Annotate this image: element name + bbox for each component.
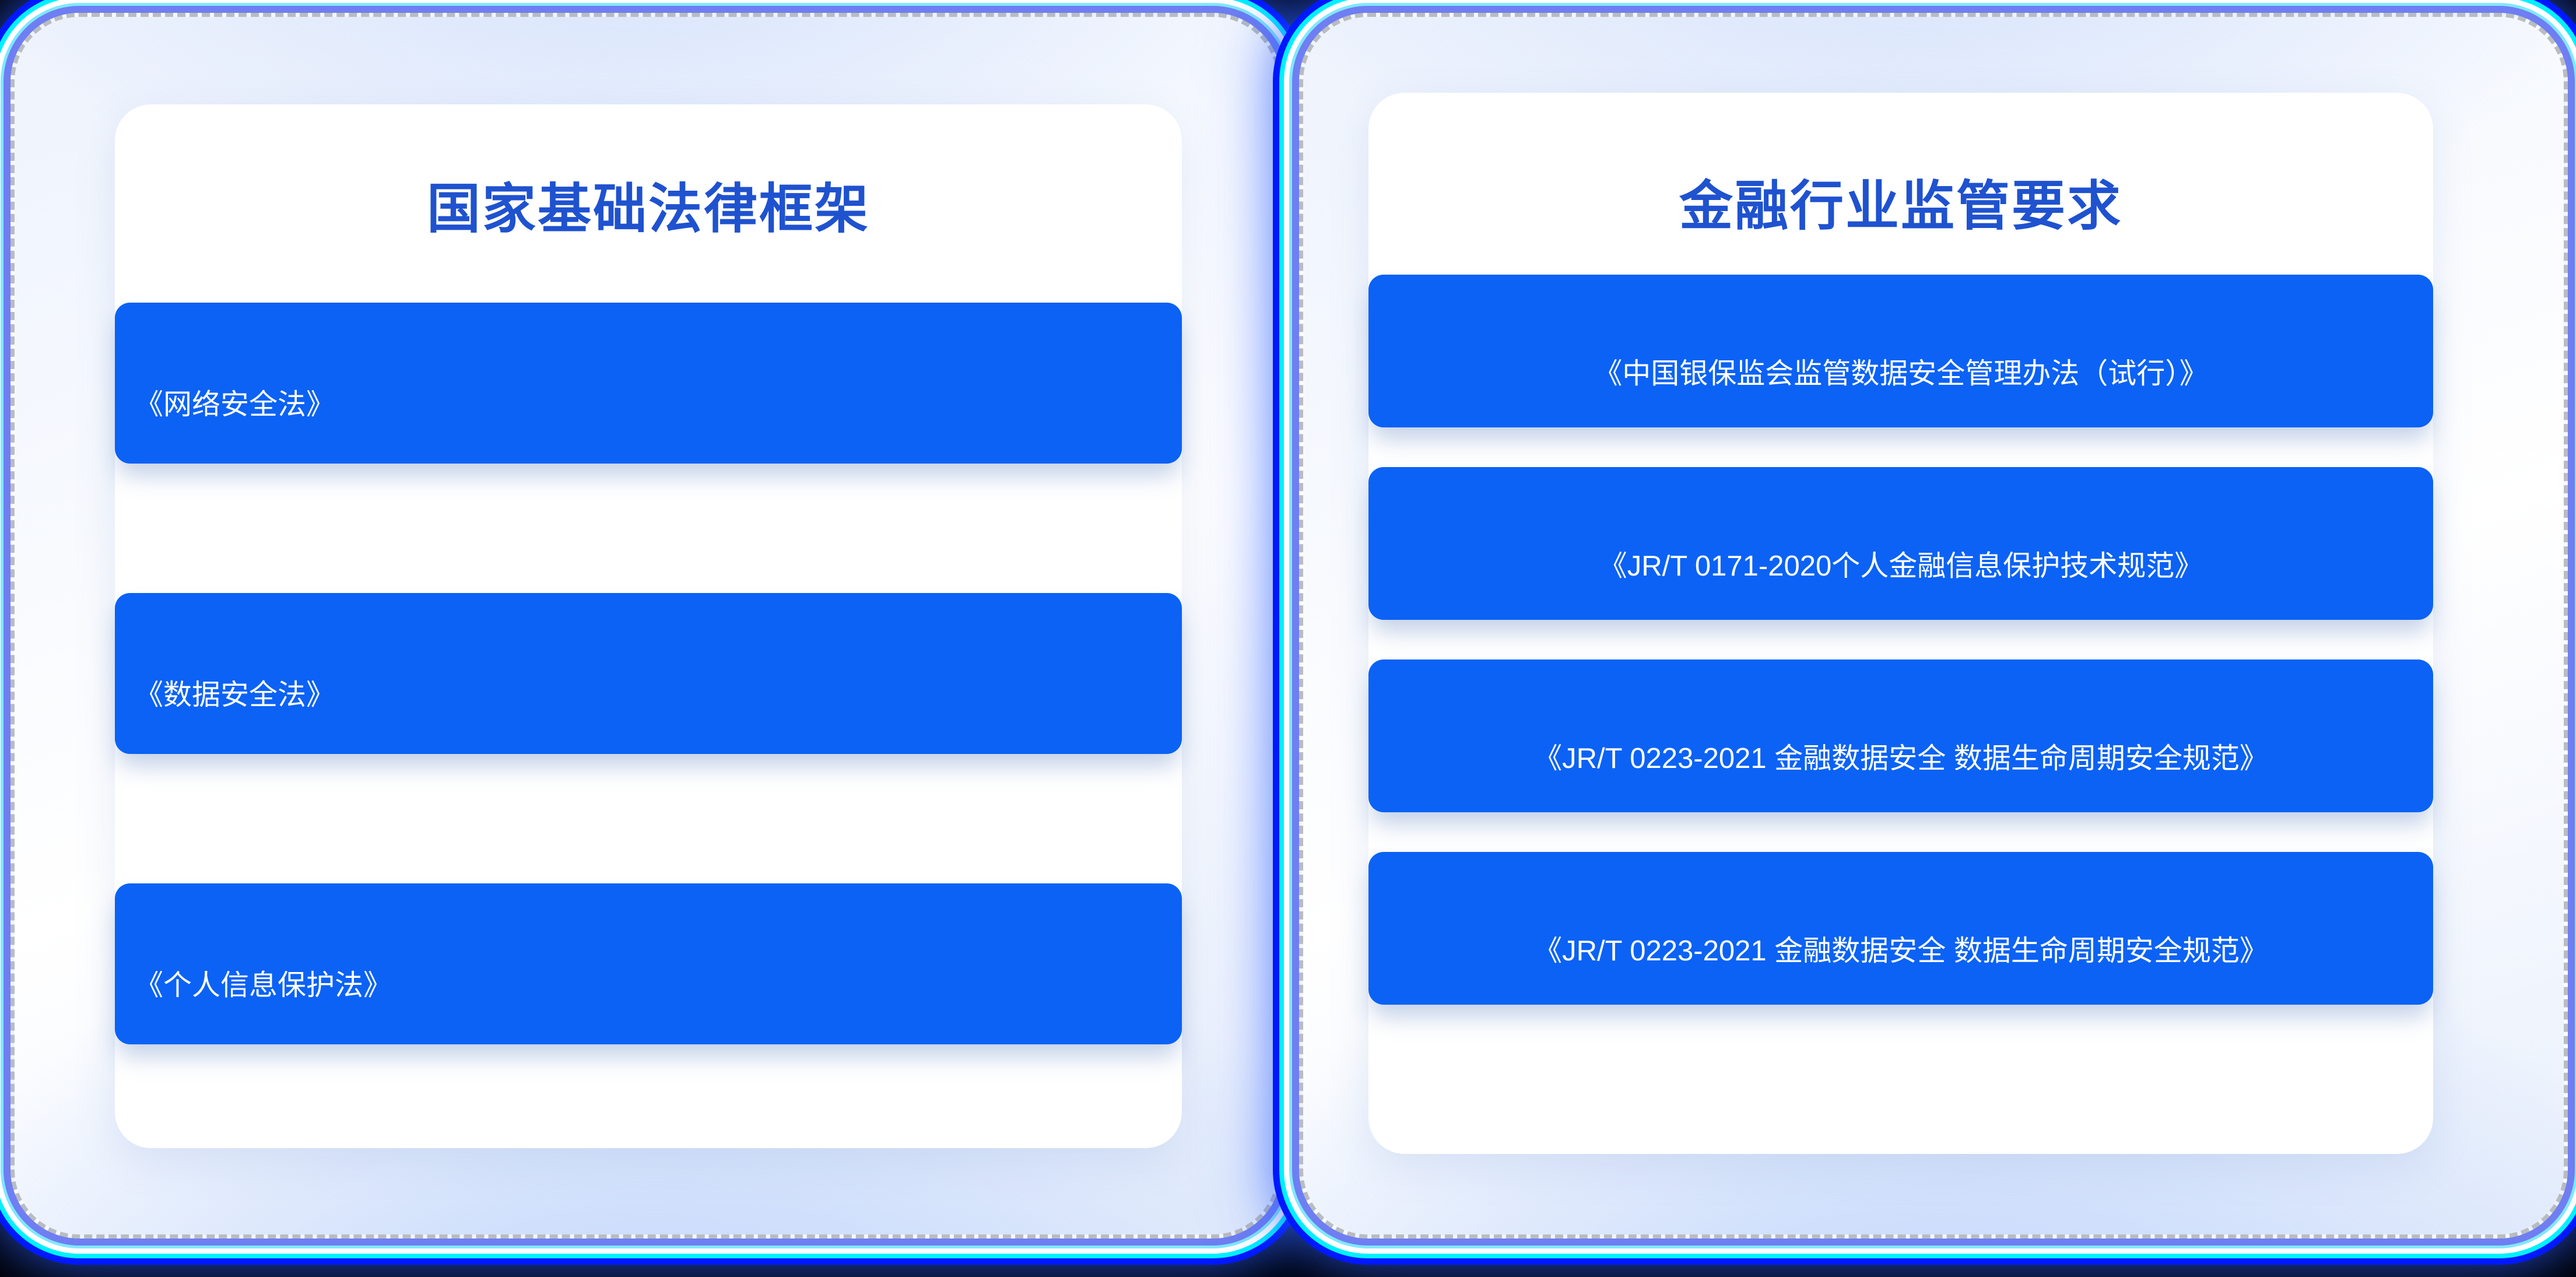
page-title-national-legal-framework: 国家基础法律框架 — [115, 166, 1182, 243]
list-item-data-security-law[interactable]: 《数据安全法》 — [115, 593, 1182, 754]
list-item-jrt-0171-2020[interactable]: 《JR/T 0171-2020个人金融信息保护技术规范》 — [1368, 467, 2433, 620]
list-item-jrt-0223-2021-a[interactable]: 《JR/T 0223-2021 金融数据安全 数据生命周期安全规范》 — [1368, 659, 2433, 812]
panel-financial-regulatory-requirements: 金融行业监管要求 《中国银保监会监管数据安全管理办法（试行）》 《JR/T 01… — [1299, 13, 2568, 1239]
list-item-cbirc-data-security-measures[interactable]: 《中国银保监会监管数据安全管理办法（试行）》 — [1368, 275, 2433, 427]
list-item-label: 《JR/T 0223-2021 金融数据安全 数据生命周期安全规范》 — [1533, 741, 2268, 777]
list-item-personal-information-protection-law[interactable]: 《个人信息保护法》 — [115, 883, 1182, 1044]
list-national-legal-framework: 《网络安全法》 《数据安全法》 《个人信息保护法》 — [115, 303, 1182, 1174]
list-item-label: 《网络安全法》 — [135, 387, 335, 423]
list-item-label: 《数据安全法》 — [135, 678, 335, 713]
list-item-label: 《中国银保监会监管数据安全管理办法（试行）》 — [1594, 356, 2208, 392]
panel-national-legal-framework: 国家基础法律框架 《网络安全法》 《数据安全法》 《个人信息保护法》 — [10, 13, 1282, 1239]
card-national-legal-framework: 国家基础法律框架 《网络安全法》 《数据安全法》 《个人信息保护法》 — [115, 104, 1182, 1148]
card-financial-regulatory-requirements: 金融行业监管要求 《中国银保监会监管数据安全管理办法（试行）》 《JR/T 01… — [1368, 93, 2433, 1154]
list-item-label: 《JR/T 0223-2021 金融数据安全 数据生命周期安全规范》 — [1533, 934, 2268, 969]
list-financial-regulatory-requirements: 《中国银保监会监管数据安全管理办法（试行）》 《JR/T 0171-2020个人… — [1368, 275, 2433, 1044]
list-item-label: 《个人信息保护法》 — [135, 968, 392, 1004]
list-item-cybersecurity-law[interactable]: 《网络安全法》 — [115, 303, 1182, 464]
list-item-jrt-0223-2021-b[interactable]: 《JR/T 0223-2021 金融数据安全 数据生命周期安全规范》 — [1368, 852, 2433, 1005]
page-title-financial-regulatory-requirements: 金融行业监管要求 — [1368, 163, 2433, 240]
list-item-label: 《JR/T 0171-2020个人金融信息保护技术规范》 — [1599, 549, 2203, 584]
